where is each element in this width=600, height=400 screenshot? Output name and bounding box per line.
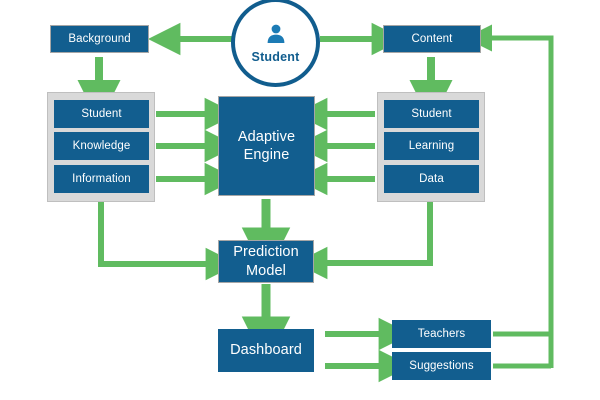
node-right-student[interactable]: Student bbox=[384, 100, 479, 128]
node-left-knowledge-label: Knowledge bbox=[73, 139, 131, 153]
node-content-label: Content bbox=[412, 32, 453, 46]
student-circle-label: Student bbox=[252, 50, 300, 64]
node-teachers-label: Teachers bbox=[418, 327, 465, 341]
arrow-left-group-to-prediction bbox=[101, 202, 208, 264]
adaptive-learning-diagram: Student Background Content Student Knowl… bbox=[0, 0, 600, 400]
node-background[interactable]: Background bbox=[50, 25, 149, 53]
person-icon bbox=[265, 24, 287, 49]
node-prediction-model-label: Prediction Model bbox=[219, 243, 313, 279]
node-right-data[interactable]: Data bbox=[384, 165, 479, 193]
student-circle[interactable]: Student bbox=[231, 0, 320, 87]
node-left-knowledge[interactable]: Knowledge bbox=[54, 132, 149, 160]
arrow-feedback-to-content bbox=[490, 38, 551, 368]
node-adaptive-engine[interactable]: Adaptive Engine bbox=[218, 96, 315, 196]
node-left-information[interactable]: Information bbox=[54, 165, 149, 193]
node-left-student-label: Student bbox=[81, 107, 121, 121]
node-right-learning-label: Learning bbox=[409, 139, 455, 153]
node-right-student-label: Student bbox=[411, 107, 451, 121]
node-left-student[interactable]: Student bbox=[54, 100, 149, 128]
node-dashboard-label: Dashboard bbox=[230, 341, 302, 359]
node-teachers[interactable]: Teachers bbox=[392, 320, 491, 348]
node-right-learning[interactable]: Learning bbox=[384, 132, 479, 160]
node-right-data-label: Data bbox=[419, 172, 444, 186]
node-suggestions-label: Suggestions bbox=[409, 359, 473, 373]
node-dashboard[interactable]: Dashboard bbox=[218, 329, 314, 372]
node-background-label: Background bbox=[68, 32, 130, 46]
node-left-information-label: Information bbox=[72, 172, 131, 186]
node-adaptive-engine-label: Adaptive Engine bbox=[219, 128, 314, 164]
node-content[interactable]: Content bbox=[383, 25, 481, 53]
node-suggestions[interactable]: Suggestions bbox=[392, 352, 491, 380]
arrow-right-group-to-prediction bbox=[325, 202, 430, 263]
node-prediction-model[interactable]: Prediction Model bbox=[218, 240, 314, 283]
